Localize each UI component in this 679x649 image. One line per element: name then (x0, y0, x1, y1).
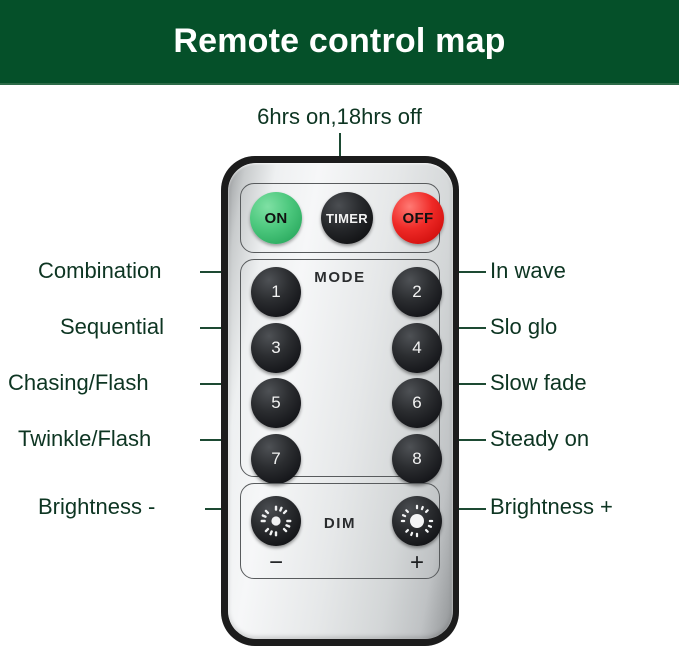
callout-brightness-plus: Brightness + (490, 494, 613, 520)
remote-control-body: ON TIMER OFF MODE 1 2 3 4 (221, 156, 459, 646)
callout-sequential: Sequential (60, 314, 164, 340)
on-button[interactable]: ON (250, 192, 302, 244)
callout-slo-glo: Slo glo (490, 314, 557, 340)
remote-control-map-diagram: Remote control map 6hrs on,18hrs off Com… (0, 0, 679, 649)
mode-button-1[interactable]: 1 (251, 267, 301, 317)
brightness-up-button[interactable] (392, 496, 442, 546)
sun-bright-icon (400, 504, 434, 538)
mode-button-2[interactable]: 2 (392, 267, 442, 317)
mode-button-2-label: 2 (412, 282, 421, 302)
on-button-label: ON (264, 210, 287, 227)
sun-dim-icon (259, 504, 293, 538)
callout-slow-fade: Slow fade (490, 370, 587, 396)
off-button[interactable]: OFF (392, 192, 444, 244)
callout-twinkle-flash: Twinkle/Flash (18, 426, 151, 452)
mode-button-5-label: 5 (271, 393, 280, 413)
callout-in-wave: In wave (490, 258, 566, 284)
brightness-down-button[interactable] (251, 496, 301, 546)
mode-button-3-label: 3 (271, 338, 280, 358)
callout-timer: 6hrs on,18hrs off (0, 104, 679, 130)
callout-steady-on: Steady on (490, 426, 589, 452)
plus-sign-label: + (392, 549, 442, 577)
mode-button-8[interactable]: 8 (392, 434, 442, 484)
page-title: Remote control map (0, 0, 679, 83)
mode-button-6[interactable]: 6 (392, 378, 442, 428)
mode-button-4[interactable]: 4 (392, 323, 442, 373)
mode-button-5[interactable]: 5 (251, 378, 301, 428)
mode-button-4-label: 4 (412, 338, 421, 358)
minus-sign-label: − (251, 549, 301, 577)
callout-chasing-flash: Chasing/Flash (8, 370, 149, 396)
mode-button-3[interactable]: 3 (251, 323, 301, 373)
off-button-label: OFF (403, 210, 434, 227)
callout-combination: Combination (38, 258, 162, 284)
mode-button-6-label: 6 (412, 393, 421, 413)
remote-faceplate: ON TIMER OFF MODE 1 2 3 4 (228, 163, 453, 639)
callout-brightness-minus: Brightness - (38, 494, 155, 520)
header-underline (0, 83, 679, 85)
mode-button-1-label: 1 (271, 282, 280, 302)
timer-button-label: TIMER (326, 211, 368, 226)
timer-button[interactable]: TIMER (321, 192, 373, 244)
mode-button-7-label: 7 (271, 449, 280, 469)
header-banner: Remote control map (0, 0, 679, 85)
mode-button-7[interactable]: 7 (251, 434, 301, 484)
mode-button-8-label: 8 (412, 449, 421, 469)
